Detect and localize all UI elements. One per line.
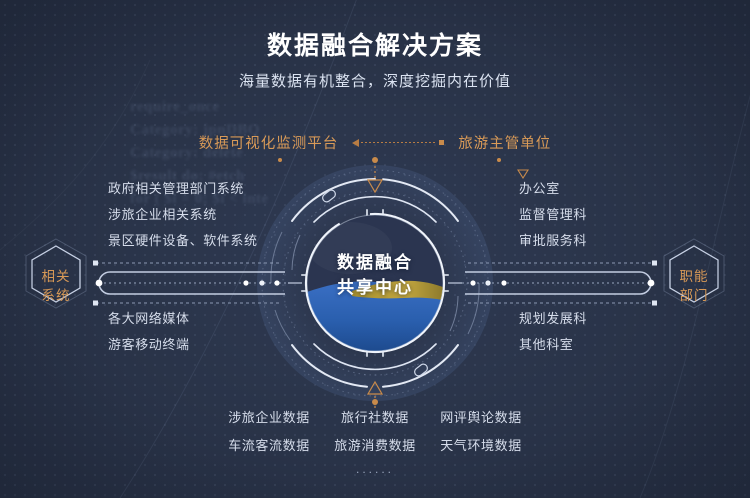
list-item[interactable]: 审批服务科	[519, 228, 587, 254]
bottom-data-grid: 涉旅企业数据 旅行社数据 网评舆论数据 车流客流数据 旅游消费数据 天气环境数据…	[0, 404, 750, 476]
tick-dot-right	[497, 158, 501, 162]
visualization-platform-label[interactable]: 数据可视化监测平台	[199, 132, 339, 153]
top-label-row: 数据可视化监测平台 旅游主管单位	[0, 132, 750, 153]
list-item[interactable]: 游客移动终端	[108, 332, 190, 358]
list-item[interactable]: 办公室	[519, 176, 587, 202]
left-hexagon-label: 相关 系统	[14, 238, 98, 334]
infographic-canvas: require_once Category: jpnDBQ Category: …	[0, 0, 750, 498]
list-item[interactable]: 景区硬件设备、软件系统	[108, 228, 258, 254]
endpoint-square-icon	[439, 140, 444, 145]
arrow-left-icon	[352, 139, 359, 147]
left-badge-line2: 系统	[42, 286, 71, 305]
list-item[interactable]: 天气环境数据	[428, 432, 534, 460]
central-sphere	[307, 215, 443, 352]
tourism-authority-label[interactable]: 旅游主管单位	[458, 132, 551, 153]
list-item[interactable]: 各大网络媒体	[108, 306, 190, 332]
list-item[interactable]: 涉旅企业相关系统	[108, 202, 258, 228]
dotted-line	[361, 142, 437, 143]
mid-ring-arcs	[314, 197, 436, 370]
list-top-right: 办公室 监督管理科 审批服务科	[519, 176, 587, 254]
left-hexagon-badge[interactable]: 相关 系统	[14, 238, 98, 334]
list-bottom-left: 各大网络媒体 游客移动终端	[108, 306, 190, 358]
ellipsis-label: ......	[356, 462, 394, 476]
top-marker	[368, 157, 382, 192]
list-top-left: 政府相关管理部门系统 涉旅企业相关系统 景区硬件设备、软件系统	[108, 176, 258, 254]
list-item[interactable]: 监督管理科	[519, 202, 587, 228]
list-item[interactable]: 车流客流数据	[216, 432, 322, 460]
list-item[interactable]: 涉旅企业数据	[216, 404, 322, 432]
right-connector-rails	[462, 261, 657, 306]
list-item[interactable]: 旅行社数据	[322, 404, 428, 432]
outer-ring-arcs	[292, 179, 458, 387]
right-hexagon-badge[interactable]: 职能 部门	[652, 238, 736, 334]
tick-dot-left	[278, 158, 282, 162]
left-badge-line1: 相关	[42, 267, 71, 286]
center-hub-label: 数据融合 共享中心	[297, 250, 453, 300]
list-item[interactable]: 其他科室	[519, 332, 587, 358]
list-item[interactable]: 旅游消费数据	[322, 432, 428, 460]
center-line2: 共享中心	[297, 275, 453, 300]
page-subtitle: 海量数据有机整合，深度挖掘内在价值	[0, 70, 750, 91]
right-hexagon-label: 职能 部门	[652, 238, 736, 334]
list-item[interactable]: 规划发展科	[519, 306, 587, 332]
left-connector-rails	[93, 261, 288, 306]
bottom-grid-row: 车流客流数据 旅游消费数据 天气环境数据	[216, 432, 534, 460]
list-item[interactable]: 网评舆论数据	[428, 404, 534, 432]
bottom-grid-row: 涉旅企业数据 旅行社数据 网评舆论数据	[216, 404, 534, 432]
center-line1: 数据融合	[297, 250, 453, 275]
right-badge-line1: 职能	[680, 267, 709, 286]
corner-brackets	[302, 210, 448, 356]
right-badge-line2: 部门	[680, 286, 709, 305]
list-bottom-right: 规划发展科 其他科室	[519, 306, 587, 358]
list-item[interactable]: 政府相关管理部门系统	[108, 176, 258, 202]
ring-tick-markers	[321, 189, 429, 378]
page-title: 数据融合解决方案	[0, 26, 750, 62]
arrow-left-connector	[352, 139, 444, 147]
